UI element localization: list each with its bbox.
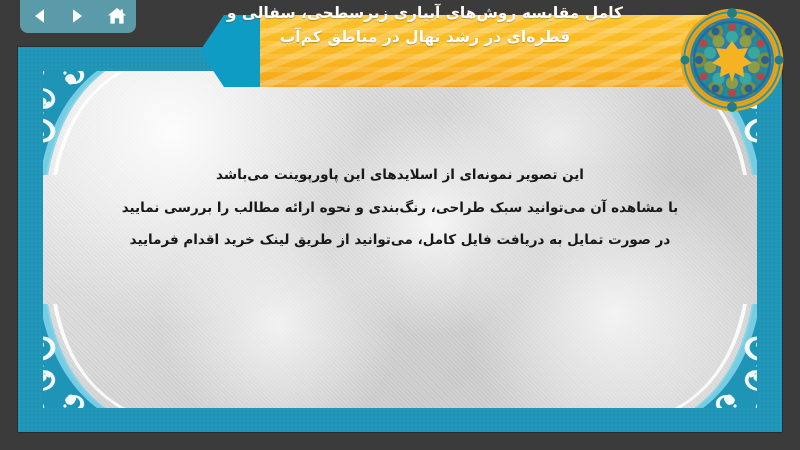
body-line-1: این تصویر نمونه‌ای از اسلایدهای این پاور…	[83, 159, 717, 192]
body-line-2: با مشاهده آن می‌توانید سبک طراحی، رنگ‌بن…	[83, 192, 717, 225]
previous-slide-button[interactable]	[26, 4, 52, 28]
arabesque-corner-bottom-right-icon	[632, 304, 757, 408]
back-arrow-icon	[31, 8, 48, 24]
slide-title: کامل مقایسه روش‌های آبیاری زیرسطحی، سفال…	[195, 2, 655, 49]
body-line-3: در صورت تمایل به دریافت فایل کامل، می‌تو…	[83, 224, 717, 257]
home-icon	[107, 7, 127, 25]
content-panel: این تصویر نمونه‌ای از اسلایدهای این پاور…	[43, 71, 757, 408]
home-button[interactable]	[104, 4, 130, 28]
forward-arrow-icon	[69, 8, 86, 24]
slide-canvas: این تصویر نمونه‌ای از اسلایدهای این پاور…	[0, 0, 800, 450]
next-slide-button[interactable]	[65, 4, 91, 28]
slide-body-text: این تصویر نمونه‌ای از اسلایدهای این پاور…	[43, 159, 757, 257]
arabesque-corner-bottom-left-icon	[43, 304, 168, 408]
persian-medallion-icon	[676, 4, 788, 116]
slide-navigation-bar	[20, 0, 136, 33]
